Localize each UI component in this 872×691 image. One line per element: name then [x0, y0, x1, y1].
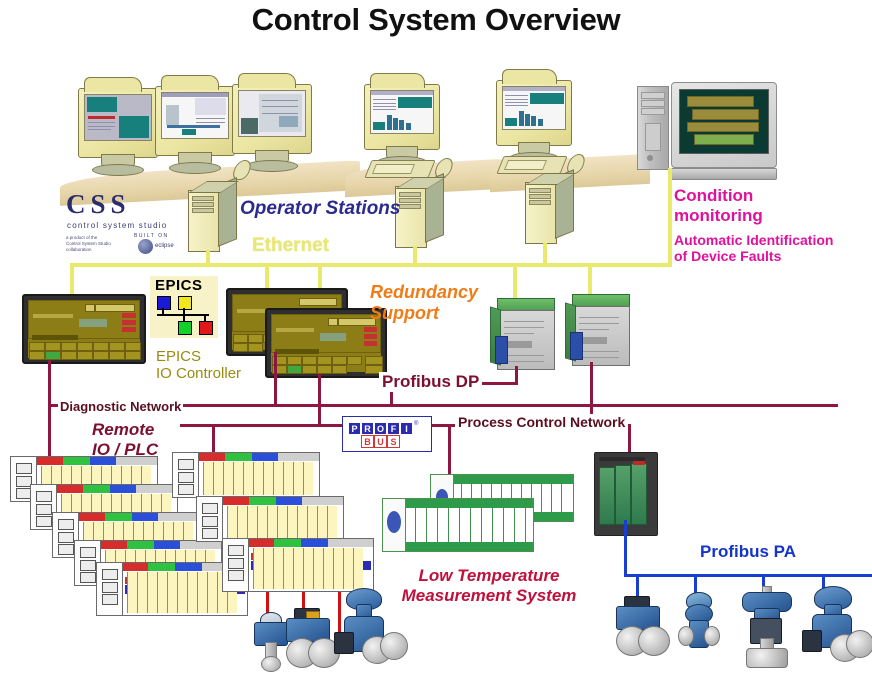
- ethernet-drop-tower1: [206, 250, 210, 265]
- controller-display: [28, 300, 140, 339]
- monitor-hood: [502, 69, 557, 84]
- operator-tower-1[interactable]: [188, 190, 235, 250]
- controller-display: [271, 314, 381, 353]
- coupler-connector[interactable]: [495, 336, 508, 364]
- pa-field-device-3[interactable]: [736, 586, 796, 670]
- monitor-hood: [238, 73, 296, 88]
- monitor-hood: [370, 73, 425, 88]
- rack-cpu-module: [172, 452, 200, 498]
- ethernet-drop-coupler1: [513, 263, 517, 298]
- ethernet-bus-trunk: [70, 263, 672, 267]
- drop-diag-to-racks-left: [48, 404, 51, 456]
- profibus-coupler-2[interactable]: [572, 294, 628, 366]
- eclipse-wordmark: eclipse: [155, 243, 174, 249]
- segment-coupler-module-2[interactable]: [615, 465, 631, 525]
- ethernet-drop-coupler2: [588, 263, 592, 294]
- drop-pcn-to-ltms: [448, 427, 451, 475]
- label-profibus-pa: Profibus PA: [700, 542, 796, 562]
- monitor-hood: [84, 77, 142, 92]
- pa-field-device-2[interactable]: [676, 592, 720, 658]
- css-logo-built-on: BUILT ON: [134, 233, 169, 239]
- controller-button-row[interactable]: [270, 356, 382, 373]
- rack-terminal-rail: [198, 452, 320, 498]
- segment-coupler-module-3[interactable]: [631, 463, 647, 525]
- css-logo-fineprint: a product of the Control System Studio c…: [66, 235, 116, 253]
- rack-terminal-rail: [248, 538, 374, 592]
- rack-terminal-rail: [222, 496, 344, 542]
- blue-square-icon: [157, 296, 171, 310]
- green-square-icon: [178, 321, 192, 335]
- drop-controller1-diagnostic: [48, 360, 51, 406]
- remote-io-rack-6[interactable]: [172, 452, 320, 496]
- epics-logo-drop-1: [162, 308, 164, 315]
- monitor-screen: [502, 86, 566, 130]
- epics-io-controller-3[interactable]: [265, 308, 387, 378]
- css-logo-wordmark: CSS: [66, 189, 131, 220]
- remote-io-rack-8[interactable]: [222, 538, 374, 590]
- label-profibus-dp: Profibus DP: [379, 372, 482, 392]
- rack-cpu-module: [96, 562, 124, 616]
- profibus-logo: P R O F I ® B U S: [342, 416, 432, 452]
- drop-coupler1-dp: [515, 366, 518, 385]
- rack-cpu-module: [222, 538, 250, 592]
- label-operator-stations: Operator Stations: [240, 198, 400, 220]
- drop-controller2-diagnostic: [274, 352, 277, 406]
- operator-monitor-4[interactable]: [364, 84, 438, 148]
- monitor-screen: [84, 94, 152, 141]
- ethernet-drop-condition-monitoring: [668, 168, 672, 265]
- operator-monitor-3[interactable]: [232, 84, 310, 152]
- eclipse-logo-icon: [138, 239, 153, 254]
- keyboard-1[interactable]: [364, 160, 435, 178]
- page-title: Control System Overview: [0, 2, 872, 38]
- ethernet-drop-controller2: [265, 263, 269, 289]
- operator-monitor-2[interactable]: [155, 86, 233, 154]
- epics-logo-text: EPICS: [155, 277, 203, 294]
- drop-controller3-pcn: [318, 374, 321, 426]
- condition-monitoring-screen: [679, 89, 769, 154]
- monitor-base: [246, 160, 298, 172]
- label-redundancy-support: Redundancy Support: [370, 282, 478, 323]
- epics-logo: EPICS: [150, 276, 218, 338]
- monitor-base: [92, 164, 144, 176]
- profibus-coupler-1[interactable]: [497, 298, 553, 370]
- label-ethernet: Ethernet: [252, 235, 329, 257]
- label-low-temperature-measurement-system: Low Temperature Measurement System: [384, 566, 594, 605]
- operator-monitor-5[interactable]: [496, 80, 570, 144]
- monitor-screen: [238, 90, 306, 137]
- epics-io-controller-1[interactable]: [22, 294, 146, 364]
- yellow-square-icon: [178, 296, 192, 310]
- label-epics-io-controller: EPICS IO Controller: [156, 348, 241, 383]
- ethernet-drop-tower2: [413, 246, 417, 265]
- ethernet-drop-tower3: [543, 242, 547, 265]
- condition-monitoring-monitor[interactable]: [671, 82, 777, 168]
- label-condition-monitoring-sub: Automatic Identification of Device Fault…: [674, 232, 833, 264]
- ethernet-drop-controller1: [70, 263, 74, 295]
- operator-tower-3[interactable]: [525, 182, 572, 242]
- condition-monitoring-keyboard[interactable]: [671, 168, 777, 180]
- css-logo: CSS control system studio a product of t…: [66, 193, 196, 251]
- label-condition-monitoring: Condition monitoring: [674, 186, 763, 225]
- red-square-icon: [199, 321, 213, 335]
- rack-cpu-module: [196, 496, 224, 542]
- pa-field-device-1[interactable]: [612, 596, 674, 662]
- label-process-control-network: Process Control Network: [455, 414, 628, 430]
- ltms-head-module: [383, 499, 406, 551]
- css-logo-subtitle: control system studio: [67, 221, 167, 230]
- monitor-base: [169, 162, 221, 174]
- label-remote-io-plc: Remote IO / PLC: [92, 420, 158, 459]
- operator-monitor-1[interactable]: [78, 88, 156, 156]
- keyboard-2[interactable]: [496, 156, 567, 174]
- operator-tower-2[interactable]: [395, 186, 442, 246]
- remote-io-rack-7[interactable]: [196, 496, 344, 540]
- label-diagnostic-network: Diagnostic Network: [58, 400, 183, 415]
- control-system-diagram: Control System Overview: [0, 0, 872, 691]
- profibus-pa-drop-from-coupler: [624, 520, 627, 576]
- pa-field-device-4[interactable]: [800, 586, 872, 670]
- condition-monitoring-tower[interactable]: [637, 86, 669, 170]
- monitor-screen: [161, 92, 229, 139]
- ltms-module-2[interactable]: [382, 498, 534, 552]
- profibus-pa-bus-trunk: [624, 574, 872, 577]
- segment-coupler-module-1[interactable]: [599, 467, 615, 525]
- epics-logo-drop-2: [183, 308, 185, 315]
- monitor-screen: [370, 90, 434, 134]
- coupler-connector[interactable]: [570, 332, 583, 360]
- controller-button-row[interactable]: [27, 342, 141, 359]
- monitor-hood: [161, 75, 219, 90]
